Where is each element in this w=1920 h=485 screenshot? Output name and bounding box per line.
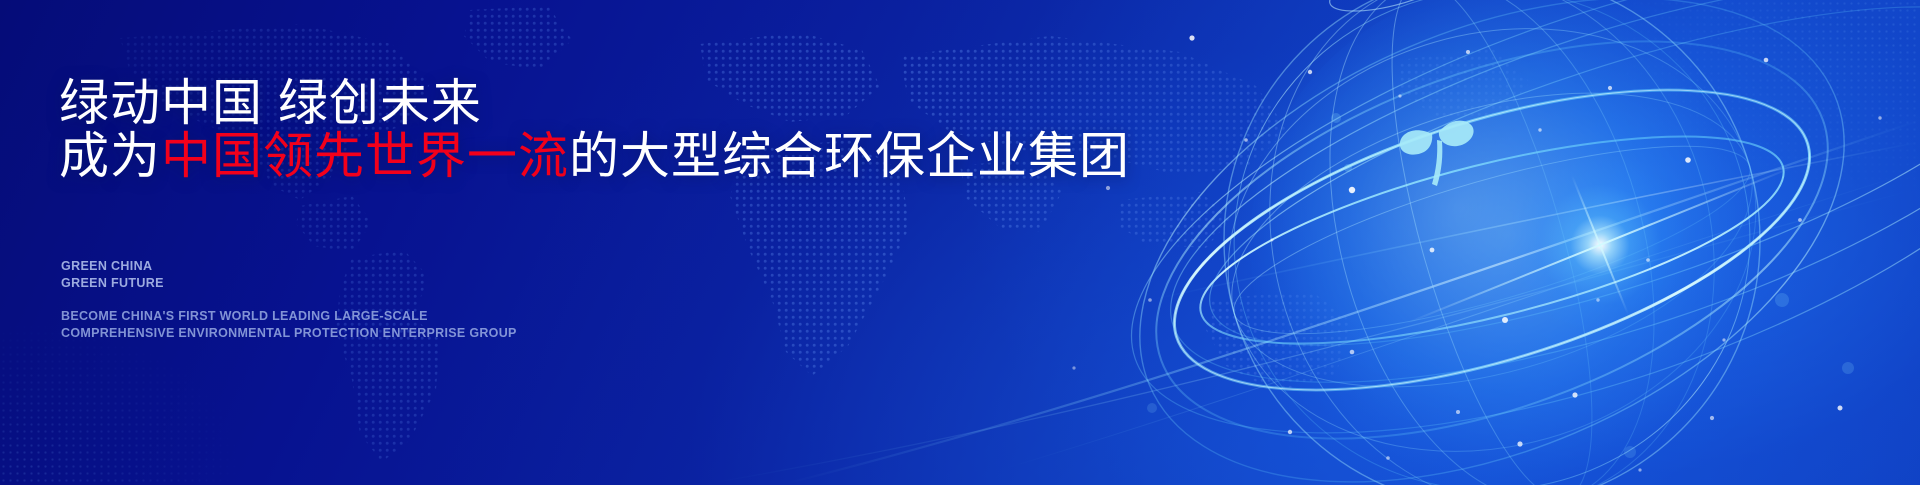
wireframe-globe-icon	[1060, 0, 1920, 485]
hero-banner: 绿动中国 绿创未来 成为中国领先世界一流的大型综合环保企业集团 GREEN CH…	[0, 0, 1920, 485]
headline-line-2-suffix: 的大型综合环保企业集团	[569, 128, 1130, 184]
subtitle-english-line-1: GREEN CHINA	[61, 258, 164, 275]
headline-line-2-accent: 中国领先世界一流	[161, 128, 569, 184]
headline-line-2-prefix: 成为	[59, 128, 161, 184]
tagline-english-line-1: BECOME CHINA'S FIRST WORLD LEADING LARGE…	[61, 308, 517, 325]
globe-glow	[1250, 0, 1810, 485]
tagline-english-line-2: COMPREHENSIVE ENVIRONMENTAL PROTECTION E…	[61, 325, 517, 342]
corner-dot-texture-top-right	[1400, 0, 1920, 300]
subtitle-english: GREEN CHINA GREEN FUTURE	[61, 258, 164, 292]
banner-copy: 绿动中国 绿创未来 成为中国领先世界一流的大型综合环保企业集团 GREEN CH…	[59, 0, 1059, 485]
sprout-leaf-icon	[1392, 108, 1484, 200]
headline-line-1: 绿动中国 绿创未来	[59, 78, 482, 128]
headline-line-2: 成为中国领先世界一流的大型综合环保企业集团	[59, 131, 1130, 181]
subtitle-english-line-2: GREEN FUTURE	[61, 275, 164, 292]
tagline-english: BECOME CHINA'S FIRST WORLD LEADING LARGE…	[61, 308, 517, 342]
center-light-flare	[1505, 150, 1695, 340]
